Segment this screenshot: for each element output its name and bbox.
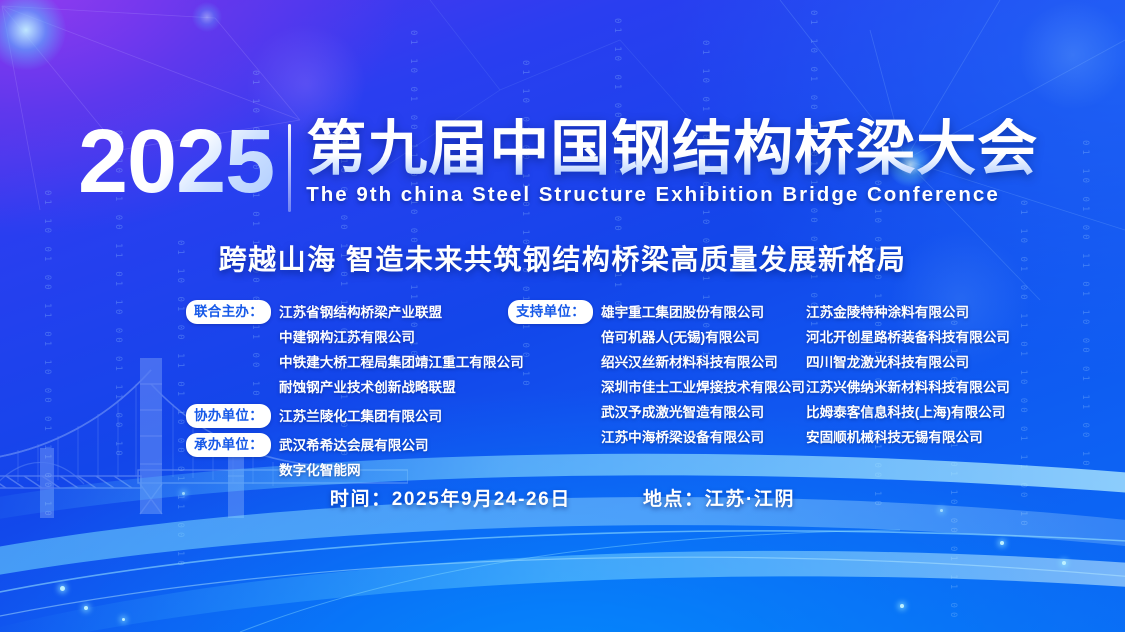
organizations-section: 联合主办： 江苏省钢结构桥梁产业联盟 中建钢构江苏有限公司 中铁建大桥工程局集团… xyxy=(0,300,1125,450)
org-name: 江苏省钢结构桥梁产业联盟 xyxy=(279,300,524,325)
org-name-list: 江苏省钢结构桥梁产业联盟 中建钢构江苏有限公司 中铁建大桥工程局集团靖江重工有限… xyxy=(279,300,524,400)
org-name: 安固顺机械科技无锡有限公司 xyxy=(806,425,1010,450)
supporter-group: 支持单位： 雄宇重工集团股份有限公司 倍可机器人(无锡)有限公司 绍兴汉丝新材料… xyxy=(508,300,805,450)
event-location: 地点：江苏·江阴 xyxy=(643,484,795,511)
org-name: 比姆泰客信息科技(上海)有限公司 xyxy=(806,400,1010,425)
sparkle-dot xyxy=(122,618,125,621)
sparkle-dot xyxy=(1000,541,1004,545)
banner-footer: 时间：2025年9月24-26日 地点：江苏·江阴 xyxy=(0,484,1125,511)
sparkle-dot xyxy=(84,606,88,610)
year-text: 2025 xyxy=(78,118,288,206)
network-node-glow xyxy=(192,2,222,32)
org-name: 中铁建大桥工程局集团靖江重工有限公司 xyxy=(279,350,524,375)
banner-title-block: 2025 第九届中国钢结构桥梁大会 The 9th china Steel St… xyxy=(78,118,1038,212)
title-english: The 9th china Steel Structure Exhibition… xyxy=(306,183,1038,207)
title-chinese: 第九届中国钢结构桥梁大会 xyxy=(306,118,1038,180)
title-texts: 第九届中国钢结构桥梁大会 The 9th china Steel Structu… xyxy=(306,118,1038,207)
org-label-pill: 协办单位： xyxy=(186,404,271,428)
organizer-column-right: 江苏金陵特种涂料有限公司 河北开创星路桥装备科技有限公司 四川智龙激光科技有限公… xyxy=(806,300,1010,450)
org-name-list: 江苏兰陵化工集团有限公司 xyxy=(279,404,442,429)
org-name-list: 武汉希希达会展有限公司 数字化智能网 xyxy=(279,433,429,483)
org-name: 深圳市佳士工业焊接技术有限公司 xyxy=(601,375,805,400)
slogan-text: 跨越山海 智造未来共筑钢结构桥梁高质量发展新格局 xyxy=(0,238,1125,278)
organizer-group: 协办单位： 江苏兰陵化工集团有限公司 xyxy=(186,404,524,429)
organizer-group: 承办单位： 武汉希希达会展有限公司 数字化智能网 xyxy=(186,433,524,483)
sparkle-dot xyxy=(60,586,65,591)
org-name: 倍可机器人(无锡)有限公司 xyxy=(601,325,805,350)
org-name: 江苏兰陵化工集团有限公司 xyxy=(279,404,442,429)
organizer-group: 联合主办： 江苏省钢结构桥梁产业联盟 中建钢构江苏有限公司 中铁建大桥工程局集团… xyxy=(186,300,524,400)
org-name: 武汉予成激光智造有限公司 xyxy=(601,400,805,425)
org-name: 数字化智能网 xyxy=(279,458,429,483)
org-name: 耐蚀钢产业技术创新战略联盟 xyxy=(279,375,524,400)
organizer-column-middle: 支持单位： 雄宇重工集团股份有限公司 倍可机器人(无锡)有限公司 绍兴汉丝新材料… xyxy=(508,300,805,454)
organizer-column-left: 联合主办： 江苏省钢结构桥梁产业联盟 中建钢构江苏有限公司 中铁建大桥工程局集团… xyxy=(186,300,524,487)
title-divider xyxy=(288,124,291,212)
org-name-list: 江苏金陵特种涂料有限公司 河北开创星路桥装备科技有限公司 四川智龙激光科技有限公… xyxy=(806,300,1010,450)
org-name: 中建钢构江苏有限公司 xyxy=(279,325,524,350)
org-name: 四川智龙激光科技有限公司 xyxy=(806,350,1010,375)
org-name: 雄宇重工集团股份有限公司 xyxy=(601,300,805,325)
event-date: 时间：2025年9月24-26日 xyxy=(330,484,571,511)
sparkle-dot xyxy=(900,604,904,608)
org-name-list: 雄宇重工集团股份有限公司 倍可机器人(无锡)有限公司 绍兴汉丝新材料科技有限公司… xyxy=(601,300,805,450)
sparkle-dot xyxy=(1062,561,1066,565)
org-name: 绍兴汉丝新材料科技有限公司 xyxy=(601,350,805,375)
org-name: 江苏兴佛纳米新材料科技有限公司 xyxy=(806,375,1010,400)
conference-banner: 01 10 01 00 11 01 10 00 01 11 00 10 01 1… xyxy=(0,0,1125,632)
org-name: 河北开创星路桥装备科技有限公司 xyxy=(806,325,1010,350)
org-label-pill: 支持单位： xyxy=(508,300,593,324)
org-name: 武汉希希达会展有限公司 xyxy=(279,433,429,458)
org-name: 江苏中海桥梁设备有限公司 xyxy=(601,425,805,450)
org-label-pill: 联合主办： xyxy=(186,300,271,324)
org-label-pill: 承办单位： xyxy=(186,433,271,457)
org-name: 江苏金陵特种涂料有限公司 xyxy=(806,300,1010,325)
